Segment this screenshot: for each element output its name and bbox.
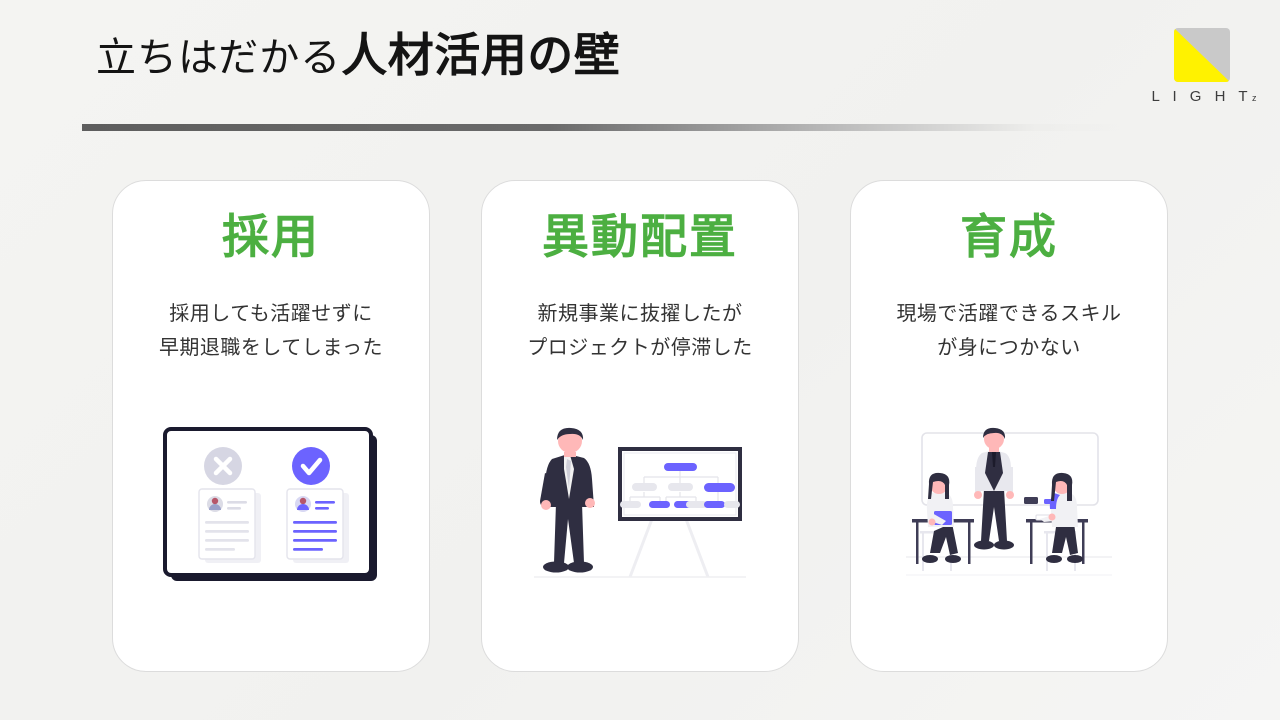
page-title-lead: 立ちはだかる xyxy=(96,35,341,80)
card-body-line1: 採用しても活躍せずに xyxy=(113,297,429,331)
title-divider xyxy=(82,124,1119,131)
card-body-line2: が身につかない xyxy=(851,331,1167,365)
card-body-line2: 早期退職をしてしまった xyxy=(113,331,429,365)
page-title-strong: 人材活用の壁 xyxy=(341,30,620,81)
page-title: 立ちはだかる人材活用の壁 xyxy=(96,33,620,79)
card-transfer-placement[interactable]: 異動配置 新規事業に抜擢したが プロジェクトが停滞した xyxy=(481,180,799,672)
brand-logo: L I G H Tz xyxy=(1148,28,1260,106)
card-row: 採用 採用しても活躍せずに 早期退職をしてしまった xyxy=(112,180,1168,672)
card-body-line2: プロジェクトが停滞した xyxy=(482,331,798,365)
card-title: 異動配置 xyxy=(482,209,798,265)
logo-wordmark: L I G H Tz xyxy=(1148,88,1260,105)
card-body: 新規事業に抜擢したが プロジェクトが停滞した xyxy=(482,297,798,365)
resume-screening-illustration xyxy=(113,413,429,583)
card-body: 採用しても活躍せずに 早期退職をしてしまった xyxy=(113,297,429,365)
card-development[interactable]: 育成 現場で活躍できるスキル が身につかない xyxy=(850,180,1168,672)
logo-square-icon xyxy=(1174,28,1230,82)
slide-canvas: 立ちはだかる人材活用の壁 L I G H Tz 採用 採用しても活躍せずに 早期… xyxy=(0,0,1280,720)
logo-yellow-triangle-icon xyxy=(1174,28,1230,82)
logo-wordmark-text: L I G H T xyxy=(1151,88,1252,105)
org-chart-presentation-illustration xyxy=(482,413,798,583)
logo-wordmark-subscript: z xyxy=(1252,93,1257,103)
card-body-line1: 新規事業に抜擢したが xyxy=(482,297,798,331)
card-title: 育成 xyxy=(851,209,1167,265)
card-title: 採用 xyxy=(113,209,429,265)
card-body: 現場で活躍できるスキル が身につかない xyxy=(851,297,1167,365)
card-body-line1: 現場で活躍できるスキル xyxy=(851,297,1167,331)
classroom-training-illustration xyxy=(851,413,1167,583)
card-recruitment[interactable]: 採用 採用しても活躍せずに 早期退職をしてしまった xyxy=(112,180,430,672)
